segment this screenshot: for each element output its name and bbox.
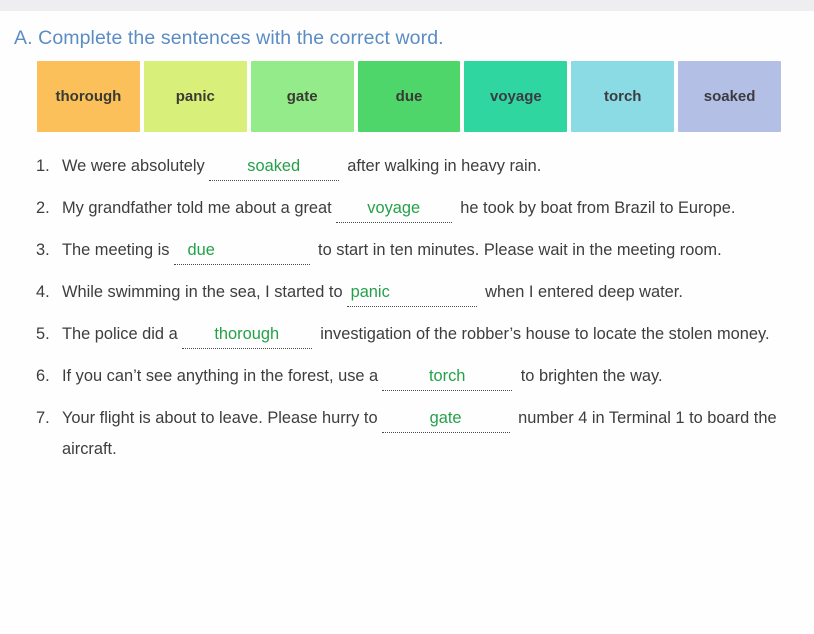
worksheet-page: A. Complete the sentences with the corre… [0,11,814,632]
answer-blank-4[interactable]: panic [347,279,477,307]
question-number: 4. [36,277,62,308]
word-bank-label: thorough [56,88,122,105]
question-item-1: 1. We were absolutelysoaked after walkin… [36,151,796,182]
answer-blank-7[interactable]: gate [382,405,510,433]
question-item-2: 2. My grandfather told me about a greatv… [36,193,796,224]
question-number: 7. [36,403,62,434]
question-body: Your flight is about to leave. Please hu… [62,403,796,465]
question-body: If you can’t see anything in the forest,… [62,361,796,392]
question-text-after: he took by boat from Brazil to Europe. [456,199,736,217]
word-bank: thorough panic gate due voyage torch soa… [37,61,781,132]
answer-blank-2[interactable]: voyage [336,195,452,223]
word-bank-item-voyage[interactable]: voyage [464,61,567,132]
sentence-list: 1. We were absolutelysoaked after walkin… [36,151,796,476]
answer-blank-3[interactable]: due [174,237,310,265]
question-body: The police did athorough investigation o… [62,319,796,350]
top-grey-strip [0,0,814,11]
question-text-after: to brighten the way. [516,367,662,385]
page-title: A. Complete the sentences with the corre… [14,27,444,50]
word-bank-label: torch [604,88,642,105]
question-body: We were absolutelysoaked after walking i… [62,151,796,182]
question-number: 3. [36,235,62,266]
question-text-before: We were absolutely [62,157,205,175]
question-item-6: 6. If you can’t see anything in the fore… [36,361,796,392]
question-text-before: My grandfather told me about a great [62,199,332,217]
word-bank-label: panic [176,88,215,105]
word-bank-item-torch[interactable]: torch [571,61,674,132]
question-text-after: investigation of the robber’s house to l… [316,325,770,343]
word-bank-label: voyage [490,88,542,105]
answer-blank-6[interactable]: torch [382,363,512,391]
question-text-before: If you can’t see anything in the forest,… [62,367,378,385]
question-number: 1. [36,151,62,182]
question-text-after: after walking in heavy rain. [343,157,542,175]
question-text-before: The police did a [62,325,178,343]
word-bank-item-soaked[interactable]: soaked [678,61,781,132]
word-bank-item-due[interactable]: due [358,61,461,132]
word-bank-label: gate [287,88,318,105]
question-text-before: While swimming in the sea, I started to [62,283,343,301]
word-bank-item-gate[interactable]: gate [251,61,354,132]
answer-blank-5[interactable]: thorough [182,321,312,349]
question-body: The meeting isdue to start in ten minute… [62,235,796,266]
question-text-before: The meeting is [62,241,170,259]
question-item-4: 4. While swimming in the sea, I started … [36,277,796,308]
question-body: While swimming in the sea, I started top… [62,277,796,308]
question-number: 2. [36,193,62,224]
answer-blank-1[interactable]: soaked [209,153,339,181]
question-text-after: when I entered deep water. [481,283,683,301]
question-text-before: Your flight is about to leave. Please hu… [62,409,378,427]
word-bank-item-panic[interactable]: panic [144,61,247,132]
question-body: My grandfather told me about a greatvoya… [62,193,796,224]
question-item-3: 3. The meeting isdue to start in ten min… [36,235,796,266]
word-bank-label: soaked [704,88,756,105]
question-text-after: to start in ten minutes. Please wait in … [314,241,722,259]
question-number: 6. [36,361,62,392]
question-item-5: 5. The police did athorough investigatio… [36,319,796,350]
word-bank-item-thorough[interactable]: thorough [37,61,140,132]
question-number: 5. [36,319,62,350]
question-item-7: 7. Your flight is about to leave. Please… [36,403,796,465]
word-bank-label: due [396,88,423,105]
